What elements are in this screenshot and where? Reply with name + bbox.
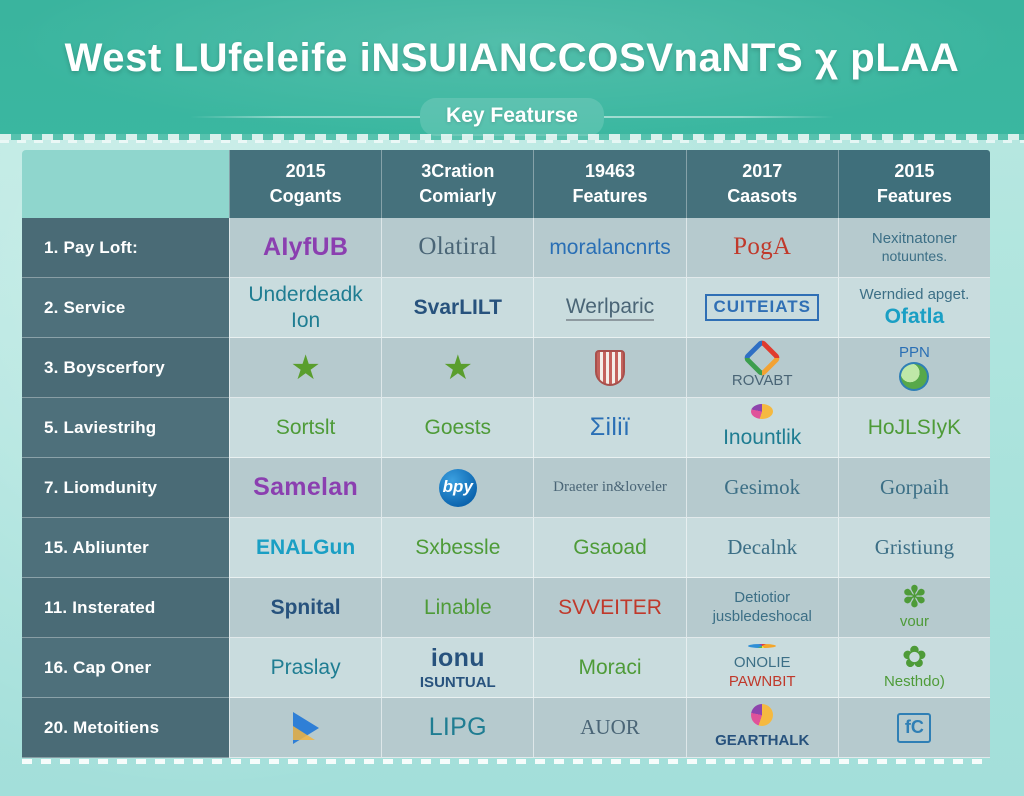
table-cell[interactable]: Σiliї bbox=[533, 398, 685, 458]
leaf-script-icon: ✿ bbox=[902, 643, 927, 673]
cell-text: AIyfUB bbox=[263, 232, 348, 263]
table-row: 2. Service Underdeadk Ion SvarLILT Werlp… bbox=[22, 278, 990, 338]
cell-text: Gorpaih bbox=[880, 475, 949, 501]
cell-text: Gesimok bbox=[724, 475, 800, 501]
table-cell[interactable]: Detiotior jusbledeshocal bbox=[686, 578, 838, 638]
page-header: West LUfeleife iNSUIANCCOSVnaNTS χ pLAA … bbox=[0, 0, 1024, 140]
table-cell[interactable]: Goests bbox=[381, 398, 533, 458]
cell-subtext: Ofatla bbox=[885, 304, 945, 330]
column-header-word: Cogants bbox=[270, 185, 342, 208]
table-cell[interactable]: GEARTHALK bbox=[686, 698, 838, 758]
cell-text: Nexitnatoner bbox=[872, 230, 957, 248]
shield-icon bbox=[595, 350, 625, 386]
cell-text: ionu bbox=[431, 643, 485, 674]
cell-text: moralancnrts bbox=[549, 235, 670, 261]
column-header-year: 2015 bbox=[894, 160, 934, 183]
cell-text: Moraci bbox=[579, 655, 642, 681]
column-header-year: 2015 bbox=[286, 160, 326, 183]
cell-text: Nesthdo) bbox=[884, 673, 945, 691]
column-header-0[interactable]: 2015 Cogants bbox=[229, 150, 381, 218]
table-row: 16. Cap Oner Praslay ionu ISUNTUAL Morac… bbox=[22, 638, 990, 698]
cell-text: Samelan bbox=[253, 472, 358, 503]
column-header-year: 3Cration bbox=[421, 160, 494, 183]
table-cell[interactable]: Gristiung bbox=[838, 518, 990, 578]
table-cell[interactable]: CUITEIATS bbox=[686, 278, 838, 338]
cell-text: SvarLILT bbox=[414, 295, 502, 321]
table-row: 3. Boyscerfory ROVABT PPN bbox=[22, 338, 990, 398]
column-header-year: 2017 bbox=[742, 160, 782, 183]
table-cell[interactable]: Spnital bbox=[229, 578, 381, 638]
sunburst-icon bbox=[751, 704, 773, 726]
subtitle-row: Key Featurse bbox=[0, 98, 1024, 136]
cell-text: PogA bbox=[733, 232, 791, 263]
table-cell[interactable]: Gorpaih bbox=[838, 458, 990, 518]
cell-subtext: jusbledeshocal bbox=[713, 608, 812, 626]
table-cell[interactable]: LIPG bbox=[381, 698, 533, 758]
table-cell[interactable]: SVVEITER bbox=[533, 578, 685, 638]
table-row: 1. Pay Loft: AIyfUB Olatiral moralancnrt… bbox=[22, 218, 990, 278]
table-cell[interactable]: PogA bbox=[686, 218, 838, 278]
play-triangle-icon bbox=[293, 712, 319, 744]
comparison-table: 2015 Cogants 3Cration Comiarly 19463 Fea… bbox=[22, 150, 990, 758]
divider-right bbox=[604, 116, 834, 118]
table-cell[interactable] bbox=[229, 338, 381, 398]
row-label: 20. Metoitiens bbox=[22, 698, 229, 758]
cell-text: Olatiral bbox=[418, 232, 497, 263]
cell-text: CUITEIATS bbox=[705, 294, 818, 321]
row-label: 2. Service bbox=[22, 278, 229, 338]
star-icon bbox=[443, 351, 473, 385]
cell-text: HoJLSIyK bbox=[868, 415, 961, 441]
bpy-circle-icon: bpy bbox=[439, 469, 477, 507]
cell-text: Detiotior bbox=[734, 589, 790, 607]
column-header-word: Features bbox=[877, 185, 952, 208]
table-cell[interactable] bbox=[533, 338, 685, 398]
cell-subtext: PAWNBIT bbox=[729, 673, 796, 691]
table-cell[interactable]: Sxbessle bbox=[381, 518, 533, 578]
table-cell[interactable]: Werlparic bbox=[533, 278, 685, 338]
cell-text: GEARTHALK bbox=[715, 732, 809, 750]
row-label: 7. Liomdunity bbox=[22, 458, 229, 518]
cell-text: AUOR bbox=[580, 715, 640, 741]
cell-text: Decalnk bbox=[727, 535, 797, 561]
table-cell[interactable]: AIyfUB bbox=[229, 218, 381, 278]
table-cell[interactable]: fC bbox=[838, 698, 990, 758]
globe-icon bbox=[899, 362, 929, 391]
subtitle-badge: Key Featurse bbox=[420, 98, 604, 136]
row-label: 11. Insterated bbox=[22, 578, 229, 638]
cell-text: Σiliї bbox=[590, 412, 631, 443]
column-header-word: Caasots bbox=[727, 185, 797, 208]
column-header-word: Features bbox=[572, 185, 647, 208]
table-cell[interactable]: ROVABT bbox=[686, 338, 838, 398]
page-title: West LUfeleife iNSUIANCCOSVnaNTS χ pLAA bbox=[0, 36, 1024, 81]
table-cell[interactable]: ✽ vour bbox=[838, 578, 990, 638]
table-cell[interactable]: ENALGun bbox=[229, 518, 381, 578]
table-cell[interactable]: Gsaoad bbox=[533, 518, 685, 578]
cell-text: ONOLIE bbox=[729, 654, 796, 672]
table-cell[interactable]: Olatiral bbox=[381, 218, 533, 278]
table-row: 5. Laviestrihg Sortslt Goests Σiliї Inou… bbox=[22, 398, 990, 458]
leaf-icon: ✽ bbox=[902, 583, 927, 613]
row-label: 15. Abliunter bbox=[22, 518, 229, 578]
divider-left bbox=[190, 116, 420, 118]
table-cell[interactable]: Linable bbox=[381, 578, 533, 638]
table-cell[interactable]: Inountlik bbox=[686, 398, 838, 458]
table-cell[interactable]: Moraci bbox=[533, 638, 685, 698]
table-row: 7. Liomdunity Samelan bpy Draeter in&lov… bbox=[22, 458, 990, 518]
column-header-4[interactable]: 2015 Features bbox=[838, 150, 990, 218]
column-header-2[interactable]: 19463 Features bbox=[533, 150, 685, 218]
circle-c-icon bbox=[751, 404, 773, 419]
table-cell[interactable]: Sortslt bbox=[229, 398, 381, 458]
table-cell[interactable]: Werndied apget. Ofatla bbox=[838, 278, 990, 338]
cell-text: SVVEITER bbox=[558, 595, 662, 621]
cell-text: Goests bbox=[425, 415, 492, 441]
table-cell[interactable]: ionu ISUNTUAL bbox=[381, 638, 533, 698]
table-cell[interactable]: HoJLSIyK bbox=[838, 398, 990, 458]
table-cell[interactable]: Draeter in&loveler bbox=[533, 458, 685, 518]
cell-text: Praslay bbox=[271, 655, 341, 681]
cell-text: Linable bbox=[424, 595, 492, 621]
cell-text: Draeter in&loveler bbox=[553, 478, 667, 496]
table-row: 11. Insterated Spnital Linable SVVEITER … bbox=[22, 578, 990, 638]
cell-subtext: Ion bbox=[291, 308, 320, 334]
table-cell[interactable]: bpy bbox=[381, 458, 533, 518]
cell-text: Werlparic bbox=[566, 294, 654, 322]
infographic-page: West LUfeleife iNSUIANCCOSVnaNTS χ pLAA … bbox=[0, 0, 1024, 796]
table-cell[interactable]: AUOR bbox=[533, 698, 685, 758]
cell-text: Spnital bbox=[271, 595, 341, 621]
row-label: 3. Boyscerfory bbox=[22, 338, 229, 398]
column-header-3[interactable]: 2017 Caasots bbox=[686, 150, 838, 218]
cell-text: Gsaoad bbox=[573, 535, 647, 561]
star-icon bbox=[290, 351, 320, 385]
row-label: 16. Cap Oner bbox=[22, 638, 229, 698]
cell-text: PPN bbox=[899, 344, 930, 362]
table-cell[interactable] bbox=[381, 338, 533, 398]
table-cell[interactable]: SvarLILT bbox=[381, 278, 533, 338]
table-cell[interactable]: Praslay bbox=[229, 638, 381, 698]
cell-text: ENALGun bbox=[256, 535, 355, 561]
table-cell[interactable]: Decalnk bbox=[686, 518, 838, 578]
column-header-year: 19463 bbox=[585, 160, 635, 183]
cell-subtext: notuuntes. bbox=[882, 248, 947, 265]
table-body: 1. Pay Loft: AIyfUB Olatiral moralancnrt… bbox=[22, 218, 990, 758]
column-header-1[interactable]: 3Cration Comiarly bbox=[381, 150, 533, 218]
column-header-word: Comiarly bbox=[419, 185, 496, 208]
cell-text: LIPG bbox=[429, 712, 487, 743]
cell-subtext: vour bbox=[900, 613, 929, 631]
table-cell[interactable] bbox=[229, 698, 381, 758]
table-corner-cell bbox=[22, 150, 229, 218]
table-cell[interactable]: Underdeadk Ion bbox=[229, 278, 381, 338]
cell-text: Sortslt bbox=[276, 415, 336, 441]
cell-text: Gristiung bbox=[875, 535, 954, 561]
table-row: 20. Metoitiens LIPG AUOR GEARTHALK fC bbox=[22, 698, 990, 758]
row-label: 5. Laviestrihg bbox=[22, 398, 229, 458]
fc-box-icon: fC bbox=[897, 713, 931, 743]
table-cell[interactable]: Nexitnatoner notuuntes. bbox=[838, 218, 990, 278]
table-cell[interactable]: Gesimok bbox=[686, 458, 838, 518]
table-cell[interactable]: moralancnrts bbox=[533, 218, 685, 278]
table-cell[interactable]: PPN bbox=[838, 338, 990, 398]
cell-text: Underdeadk bbox=[248, 282, 362, 308]
table-header-row: 2015 Cogants 3Cration Comiarly 19463 Fea… bbox=[22, 150, 990, 218]
table-cell[interactable]: ONOLIE PAWNBIT bbox=[686, 638, 838, 698]
pinwheel-icon bbox=[748, 644, 776, 648]
cell-text: Inountlik bbox=[723, 425, 801, 451]
cell-subtext: ISUNTUAL bbox=[420, 674, 496, 692]
row-label: 1. Pay Loft: bbox=[22, 218, 229, 278]
table-row: 15. Abliunter ENALGun Sxbessle Gsaoad De… bbox=[22, 518, 990, 578]
cell-text: Sxbessle bbox=[415, 535, 500, 561]
table-header: 2015 Cogants 3Cration Comiarly 19463 Fea… bbox=[22, 150, 990, 218]
table-cell[interactable]: ✿ Nesthdo) bbox=[838, 638, 990, 698]
table-cell[interactable]: Samelan bbox=[229, 458, 381, 518]
cell-text: Werndied apget. bbox=[860, 286, 970, 304]
